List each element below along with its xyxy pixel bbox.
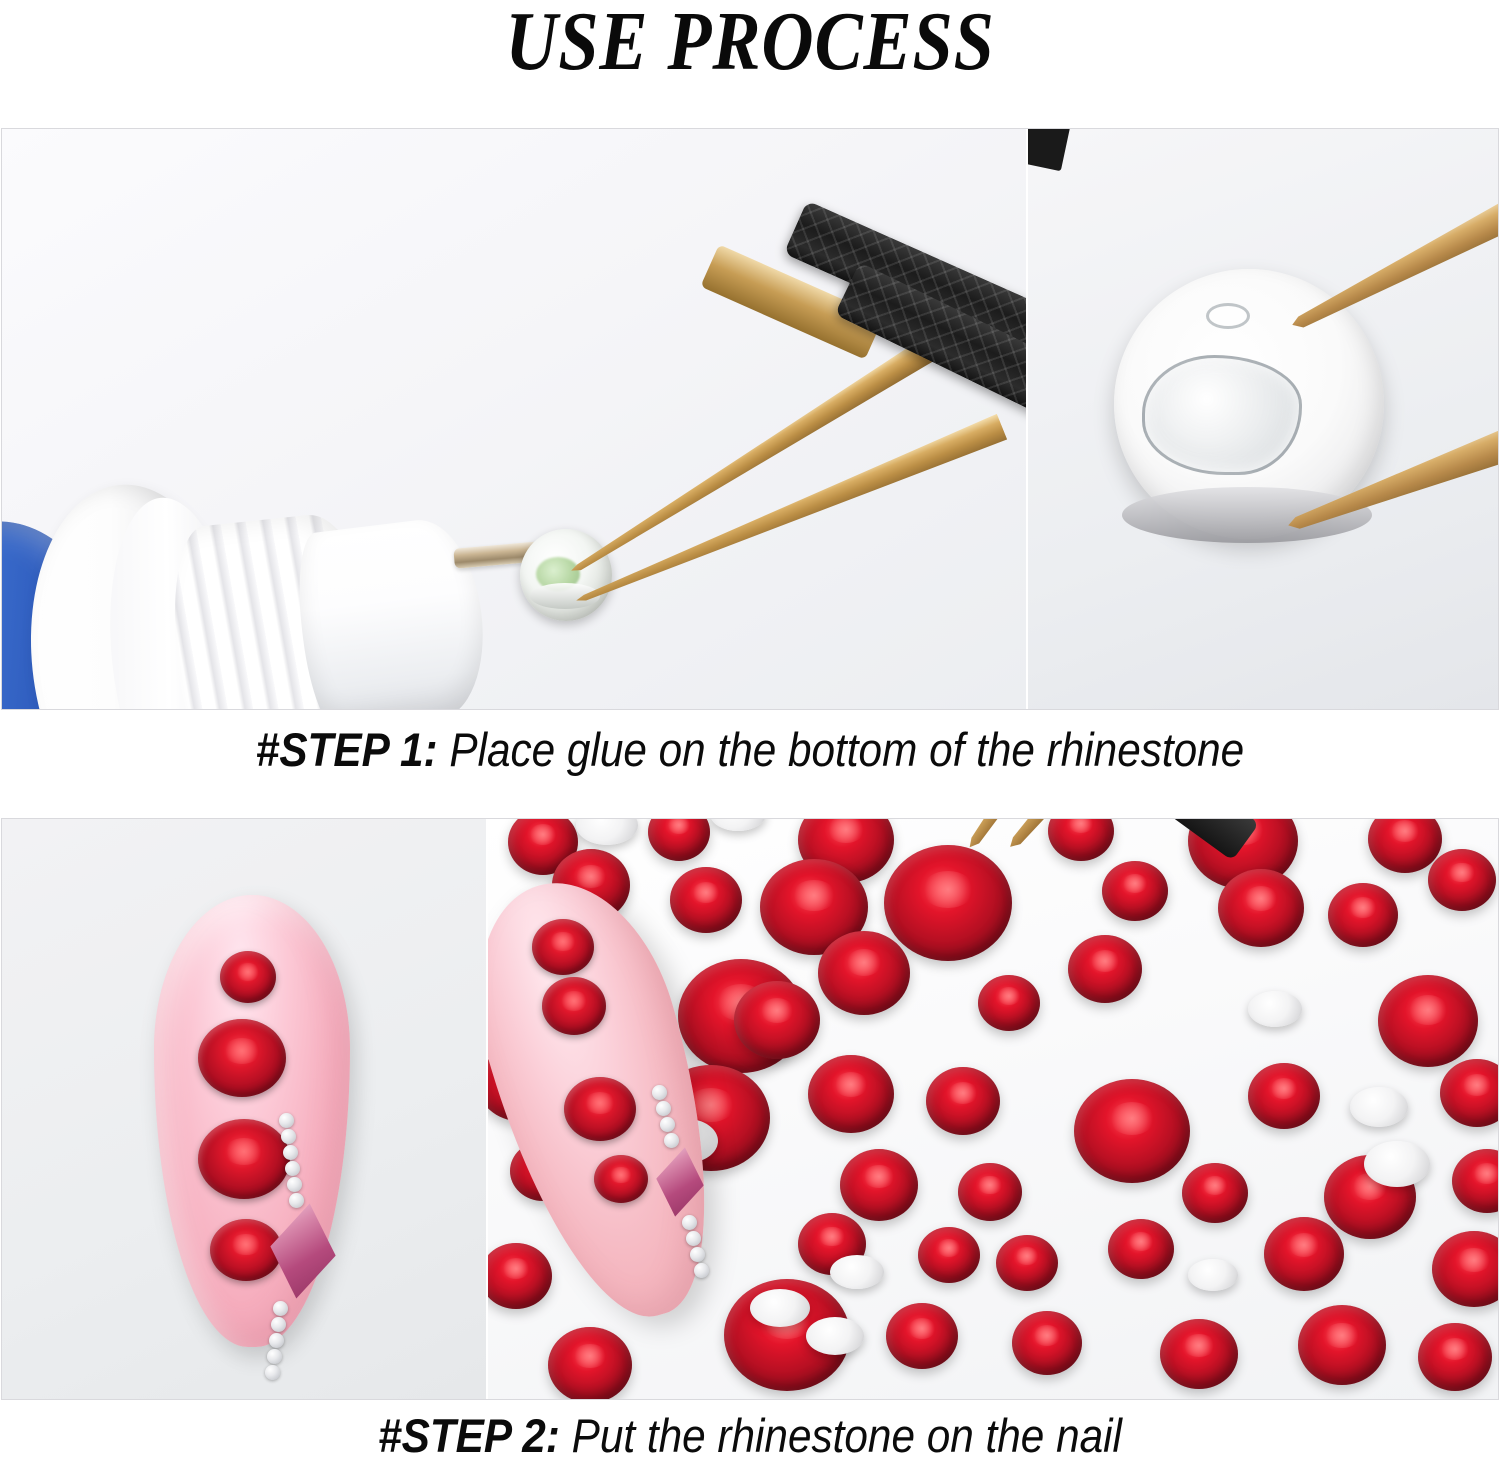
rhinestone-back bbox=[1248, 991, 1302, 1027]
micro-bead bbox=[281, 1129, 296, 1144]
rhinestone-back bbox=[806, 1317, 864, 1355]
micro-bead bbox=[271, 1317, 286, 1332]
scatter-rhinestone bbox=[1160, 1319, 1238, 1389]
scatter-rhinestone bbox=[1102, 861, 1168, 921]
panel-glue-on-stone bbox=[1028, 129, 1499, 709]
scatter-rhinestone bbox=[1218, 869, 1304, 947]
nail-rhinestone bbox=[198, 1119, 290, 1199]
scatter-rhinestone bbox=[918, 1227, 980, 1283]
step-2-image-row bbox=[1, 818, 1499, 1400]
rhinestone-back bbox=[1364, 1141, 1430, 1187]
scatter-rhinestone bbox=[1074, 1079, 1190, 1183]
micro-bead bbox=[656, 1101, 671, 1116]
panel-divider-vertical-bottom bbox=[486, 819, 488, 1399]
scatter-rhinestone bbox=[1378, 975, 1478, 1067]
rhinestone-back bbox=[830, 1255, 884, 1289]
nail-rhinestone bbox=[564, 1077, 636, 1141]
micro-bead bbox=[289, 1193, 304, 1208]
page-title: USE PROCESS bbox=[105, 0, 1395, 90]
scatter-rhinestone bbox=[1328, 883, 1398, 947]
micro-bead bbox=[269, 1333, 284, 1348]
nail-rhinestone bbox=[532, 919, 594, 975]
scatter-rhinestone bbox=[1068, 935, 1142, 1003]
micro-bead bbox=[664, 1133, 679, 1148]
scatter-rhinestone bbox=[734, 981, 820, 1059]
micro-bead bbox=[682, 1215, 697, 1230]
panel-divider-vertical-top bbox=[1026, 129, 1028, 709]
rhinestone-back bbox=[750, 1289, 810, 1327]
nail-rhinestone bbox=[220, 951, 276, 1003]
scatter-rhinestone bbox=[1182, 1163, 1248, 1223]
nail-rhinestone bbox=[210, 1219, 282, 1281]
scatter-rhinestone bbox=[818, 931, 910, 1015]
rhinestone-back bbox=[1350, 1087, 1408, 1127]
scatter-rhinestone bbox=[1428, 849, 1496, 911]
step-2-caption: #STEP 2: Put the rhinestone on the nail bbox=[75, 1408, 1425, 1464]
glue-bubble bbox=[1206, 303, 1250, 329]
scatter-rhinestone bbox=[1418, 1323, 1492, 1391]
nail-rhinestone bbox=[198, 1019, 286, 1097]
step-2-text: Put the rhinestone on the nail bbox=[560, 1409, 1122, 1462]
scatter-rhinestone bbox=[1298, 1305, 1386, 1385]
scatter-rhinestone bbox=[958, 1163, 1022, 1221]
scatter-rhinestone bbox=[548, 1327, 632, 1399]
scatter-rhinestone bbox=[1264, 1217, 1344, 1291]
scatter-rhinestone bbox=[886, 1303, 958, 1369]
micro-bead bbox=[265, 1365, 280, 1380]
step-1-image-row bbox=[1, 128, 1499, 710]
panel-finished-nail bbox=[2, 819, 486, 1399]
rhinestone-back bbox=[1188, 1259, 1238, 1291]
scatter-rhinestone bbox=[978, 975, 1040, 1031]
micro-bead bbox=[652, 1085, 667, 1100]
micro-bead bbox=[694, 1263, 709, 1278]
scatter-rhinestone bbox=[1012, 1311, 1082, 1375]
micro-bead bbox=[686, 1231, 701, 1246]
nail-rhinestone bbox=[542, 977, 606, 1035]
scatter-rhinestone bbox=[1248, 1063, 1320, 1129]
step-2-label: #STEP 2: bbox=[378, 1409, 560, 1462]
scatter-rhinestone bbox=[840, 1149, 918, 1221]
micro-bead bbox=[273, 1301, 288, 1316]
panel-rhinestone-scatter bbox=[488, 819, 1499, 1399]
micro-bead bbox=[283, 1145, 298, 1160]
micro-bead bbox=[690, 1247, 705, 1262]
glue-drop bbox=[1142, 355, 1302, 475]
scatter-rhinestone bbox=[996, 1235, 1058, 1291]
micro-bead bbox=[285, 1161, 300, 1176]
scatter-rhinestone bbox=[1108, 1219, 1174, 1279]
scatter-rhinestone bbox=[670, 867, 742, 933]
step-1-text: Place glue on the bottom of the rhinesto… bbox=[438, 723, 1245, 776]
step-1-caption: #STEP 1: Place glue on the bottom of the… bbox=[75, 722, 1425, 778]
micro-bead bbox=[287, 1177, 302, 1192]
micro-bead bbox=[660, 1117, 675, 1132]
panel-glue-bottle bbox=[2, 129, 1026, 709]
micro-bead bbox=[279, 1113, 294, 1128]
nail-rhinestone bbox=[594, 1155, 648, 1203]
scatter-rhinestone bbox=[884, 845, 1012, 961]
scatter-rhinestone bbox=[926, 1067, 1000, 1135]
step-1-label: #STEP 1: bbox=[256, 723, 438, 776]
scatter-rhinestone bbox=[808, 1055, 894, 1133]
rhinestone-held bbox=[520, 529, 612, 621]
micro-bead bbox=[267, 1349, 282, 1364]
use-process-infographic: USE PROCESS bbox=[0, 0, 1500, 1466]
